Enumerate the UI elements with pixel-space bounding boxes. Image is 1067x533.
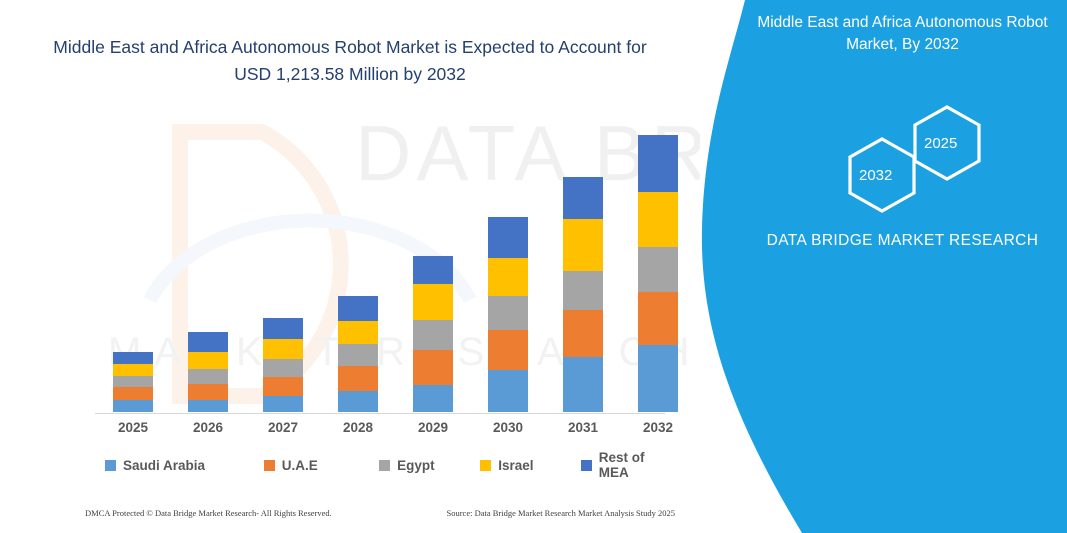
segment-egypt-2031 bbox=[563, 271, 603, 311]
legend-label: Rest of MEA bbox=[599, 450, 675, 480]
x-axis-label-2032: 2032 bbox=[623, 420, 693, 435]
footer-source: Source: Data Bridge Market Research Mark… bbox=[446, 508, 675, 518]
segment-rest-of-mea-2025 bbox=[113, 352, 153, 364]
x-axis-label-2026: 2026 bbox=[173, 420, 243, 435]
segment-u-a-e-2029 bbox=[413, 350, 453, 385]
segment-saudi-arabia-2026 bbox=[188, 400, 228, 412]
bar-2028 bbox=[338, 296, 378, 412]
segment-saudi-arabia-2025 bbox=[113, 400, 153, 412]
legend-item-israel[interactable]: Israel bbox=[480, 458, 581, 473]
hexagon-shapes-icon bbox=[820, 95, 1060, 215]
legend-label: U.A.E bbox=[282, 458, 318, 473]
segment-israel-2027 bbox=[263, 339, 303, 359]
segment-rest-of-mea-2029 bbox=[413, 256, 453, 284]
segment-rest-of-mea-2031 bbox=[563, 177, 603, 219]
legend-swatch-icon bbox=[379, 460, 390, 471]
x-axis-label-2029: 2029 bbox=[398, 420, 468, 435]
x-axis-label-2027: 2027 bbox=[248, 420, 318, 435]
segment-israel-2028 bbox=[338, 321, 378, 344]
legend-item-rest-of-mea[interactable]: Rest of MEA bbox=[581, 450, 675, 480]
segment-israel-2032 bbox=[638, 192, 678, 247]
legend-label: Saudi Arabia bbox=[123, 458, 205, 473]
legend-label: Israel bbox=[498, 458, 533, 473]
segment-u-a-e-2030 bbox=[488, 330, 528, 370]
segment-rest-of-mea-2026 bbox=[188, 332, 228, 352]
brand-panel-name: DATA BRIDGE MARKET RESEARCH bbox=[745, 228, 1060, 253]
segment-saudi-arabia-2029 bbox=[413, 385, 453, 412]
hexagon-group: 2025 2032 bbox=[820, 95, 1060, 215]
segment-egypt-2026 bbox=[188, 369, 228, 384]
chart-panel: DATA BRIDGE MARKET RESEARCH Middle East … bbox=[0, 0, 700, 533]
segment-egypt-2030 bbox=[488, 296, 528, 330]
chart-legend: Saudi ArabiaU.A.EEgyptIsraelRest of MEA bbox=[105, 455, 675, 475]
brand-panel-title: Middle East and Africa Autonomous Robot … bbox=[745, 12, 1060, 56]
hexagon-2025-label: 2025 bbox=[924, 135, 957, 152]
segment-u-a-e-2025 bbox=[113, 387, 153, 400]
footer: DMCA Protected © Data Bridge Market Rese… bbox=[85, 508, 675, 518]
segment-egypt-2025 bbox=[113, 376, 153, 387]
segment-saudi-arabia-2032 bbox=[638, 345, 678, 412]
legend-item-egypt[interactable]: Egypt bbox=[379, 458, 480, 473]
footer-copyright: DMCA Protected © Data Bridge Market Rese… bbox=[85, 508, 332, 518]
segment-israel-2031 bbox=[563, 219, 603, 271]
legend-item-saudi-arabia[interactable]: Saudi Arabia bbox=[105, 458, 264, 473]
segment-saudi-arabia-2027 bbox=[263, 396, 303, 412]
segment-rest-of-mea-2028 bbox=[338, 296, 378, 321]
x-axis-label-2028: 2028 bbox=[323, 420, 393, 435]
bar-2029 bbox=[413, 256, 453, 412]
x-axis-line bbox=[95, 413, 665, 414]
segment-u-a-e-2027 bbox=[263, 377, 303, 396]
bar-2030 bbox=[488, 217, 528, 412]
brand-panel: Middle East and Africa Autonomous Robot … bbox=[690, 0, 1067, 533]
legend-swatch-icon bbox=[264, 460, 275, 471]
bar-2025 bbox=[113, 352, 153, 412]
segment-israel-2025 bbox=[113, 364, 153, 376]
segment-israel-2026 bbox=[188, 352, 228, 369]
segment-saudi-arabia-2028 bbox=[338, 391, 378, 412]
segment-u-a-e-2026 bbox=[188, 384, 228, 400]
segment-egypt-2027 bbox=[263, 359, 303, 377]
segment-u-a-e-2032 bbox=[638, 292, 678, 345]
legend-label: Egypt bbox=[397, 458, 435, 473]
bar-2031 bbox=[563, 177, 603, 412]
hexagon-2032-label: 2032 bbox=[859, 167, 892, 184]
segment-u-a-e-2028 bbox=[338, 366, 378, 391]
segment-rest-of-mea-2032 bbox=[638, 135, 678, 192]
segment-rest-of-mea-2030 bbox=[488, 217, 528, 258]
bar-2027 bbox=[263, 318, 303, 412]
segment-saudi-arabia-2031 bbox=[563, 357, 603, 412]
segment-israel-2030 bbox=[488, 258, 528, 297]
bar-2032 bbox=[638, 135, 678, 412]
legend-swatch-icon bbox=[105, 460, 116, 471]
segment-saudi-arabia-2030 bbox=[488, 370, 528, 412]
segment-egypt-2032 bbox=[638, 247, 678, 293]
legend-swatch-icon bbox=[480, 460, 491, 471]
segment-egypt-2029 bbox=[413, 320, 453, 350]
segment-u-a-e-2031 bbox=[563, 310, 603, 357]
bar-2026 bbox=[188, 332, 228, 412]
legend-swatch-icon bbox=[581, 460, 592, 471]
segment-egypt-2028 bbox=[338, 344, 378, 366]
segment-rest-of-mea-2027 bbox=[263, 318, 303, 339]
x-axis-label-2030: 2030 bbox=[473, 420, 543, 435]
legend-item-u-a-e[interactable]: U.A.E bbox=[264, 458, 379, 473]
segment-israel-2029 bbox=[413, 284, 453, 321]
x-axis-label-2031: 2031 bbox=[548, 420, 618, 435]
stacked-bar-chart: 20252026202720282029203020312032 bbox=[0, 0, 700, 500]
x-axis-label-2025: 2025 bbox=[98, 420, 168, 435]
